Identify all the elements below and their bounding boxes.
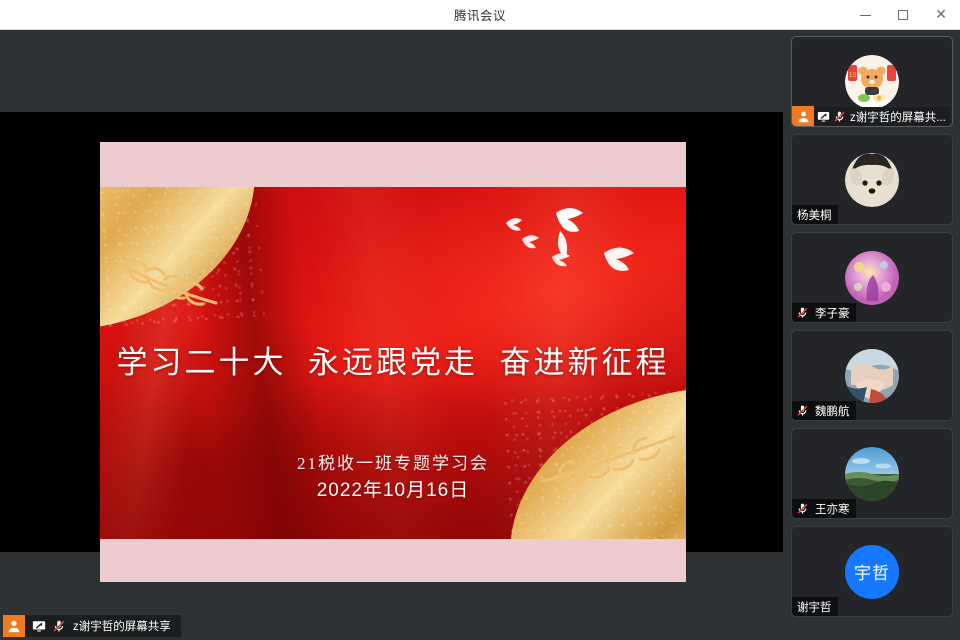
slide-subtitle: 21税收一班专题学习会 xyxy=(100,449,686,474)
participant-tile[interactable]: 宇哲 谢宇哲 xyxy=(791,526,953,617)
status-bar: z谢宇哲的屏幕共享 xyxy=(0,612,783,640)
participant-tile[interactable]: 李子豪 xyxy=(791,232,953,323)
participant-name: 魏鹏航 xyxy=(812,403,850,419)
bear-food-avatar-icon: 10 xyxy=(845,55,899,109)
svg-text:10: 10 xyxy=(849,72,857,79)
tile-footer: 杨美桐 xyxy=(792,205,838,224)
tile-footer: 谢宇哲 xyxy=(792,597,838,616)
slide-title: 学习二十大 永远跟党走 奋进新征程 xyxy=(100,337,686,382)
participant-name: z谢宇哲的屏幕共... xyxy=(849,109,946,125)
participants-rail[interactable]: 10 xyxy=(783,30,960,640)
host-badge-icon xyxy=(3,615,25,637)
dog-avatar-icon xyxy=(845,153,899,207)
minimize-icon xyxy=(860,15,871,16)
avatar xyxy=(845,349,899,403)
participant-tile[interactable]: 王亦寒 xyxy=(791,428,953,519)
host-badge-icon xyxy=(792,106,814,128)
mic-muted-icon xyxy=(792,404,809,417)
landscape-photo-avatar-icon xyxy=(845,447,899,501)
avatar xyxy=(845,251,899,305)
maximize-icon xyxy=(898,10,908,20)
participant-name: 杨美桐 xyxy=(792,207,832,223)
participant-tile[interactable]: 10 xyxy=(791,36,953,127)
doves-icon xyxy=(494,201,664,301)
window-controls: ✕ xyxy=(846,0,960,30)
tile-footer: 魏鹏航 xyxy=(792,401,856,420)
tile-footer: z谢宇哲的屏幕共... xyxy=(792,107,950,126)
tile-footer: 李子豪 xyxy=(792,303,856,322)
minimize-button[interactable] xyxy=(846,0,884,30)
person-photo-avatar-icon xyxy=(845,349,899,403)
maximize-button[interactable] xyxy=(884,0,922,30)
gold-texture xyxy=(100,187,265,329)
gold-wave-top-left xyxy=(100,187,265,329)
avatar xyxy=(845,153,899,207)
mic-muted-icon xyxy=(792,306,809,319)
mic-muted-icon xyxy=(833,110,846,123)
screen-share-icon xyxy=(32,619,46,633)
slide-red-banner: 学习二十大 永远跟党走 奋进新征程 21税收一班专题学习会 2022年10月16… xyxy=(100,187,686,539)
pink-anime-avatar-icon xyxy=(845,251,899,305)
close-button[interactable]: ✕ xyxy=(922,0,960,30)
window-title: 腾讯会议 xyxy=(454,5,506,24)
share-owner-label: z谢宇哲的屏幕共享 xyxy=(73,618,181,634)
title-bar: 腾讯会议 ✕ xyxy=(0,0,960,30)
participant-name: 王亦寒 xyxy=(812,501,850,517)
slide-date: 2022年10月16日 xyxy=(100,475,686,502)
avatar-initials: 宇哲 xyxy=(845,545,899,599)
shared-slide: 学习二十大 永远跟党走 奋进新征程 21税收一班专题学习会 2022年10月16… xyxy=(100,142,686,582)
screen-share-indicator[interactable]: z谢宇哲的屏幕共享 xyxy=(3,615,181,637)
screen-share-icon xyxy=(817,110,830,123)
participant-tile[interactable]: 魏鹏航 xyxy=(791,330,953,421)
participant-tile[interactable]: 杨美桐 xyxy=(791,134,953,225)
mic-muted-icon xyxy=(52,619,66,633)
shared-screen-stage[interactable]: 学习二十大 永远跟党走 奋进新征程 21税收一班专题学习会 2022年10月16… xyxy=(0,30,783,612)
avatar xyxy=(845,447,899,501)
close-icon: ✕ xyxy=(935,8,947,22)
avatar: 10 xyxy=(845,55,899,109)
tile-footer: 王亦寒 xyxy=(792,499,856,518)
tencent-meeting-window: 腾讯会议 ✕ xyxy=(0,0,960,640)
participant-name: 谢宇哲 xyxy=(792,599,832,615)
mic-muted-icon xyxy=(792,502,809,515)
participant-name: 李子豪 xyxy=(812,305,850,321)
